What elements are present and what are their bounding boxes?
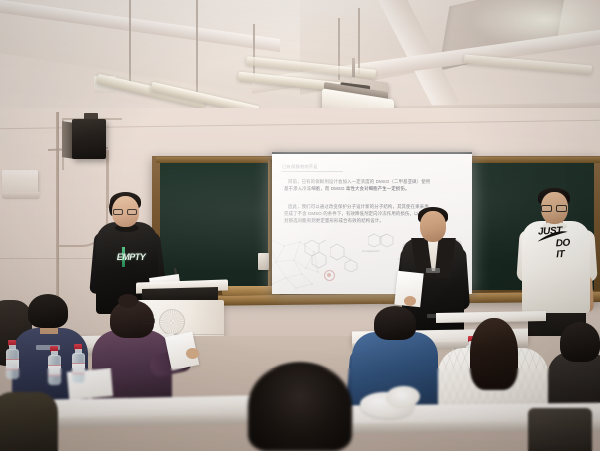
wall-junction-box-lip [2, 192, 40, 199]
glasses-icon [113, 209, 138, 215]
glasses-lens [113, 209, 123, 215]
audience-navy-hair [28, 294, 68, 328]
glasses-icon [541, 205, 567, 212]
audience-dark-hair [560, 322, 600, 362]
electrical-conduit [106, 150, 109, 208]
right-presenter-shirt-text-bottom: DO IT [555, 238, 570, 261]
foreground-audience-head [248, 362, 352, 451]
glasses-lens [127, 209, 137, 215]
light-hanger-rod [196, 0, 198, 94]
lectern-emblem [160, 310, 184, 334]
audience-purple-hand [186, 348, 199, 359]
right-presenter-shirt-text-top: JUST [538, 225, 563, 237]
glasses-lens [541, 205, 552, 212]
audience-blue-hair [374, 306, 416, 340]
slide-paragraph-line: 因此，我们可以通过改变保护分子设计新的分子结构，其其使在果采用 [288, 203, 429, 210]
glasses-lens [556, 205, 567, 212]
audience-member [0, 392, 58, 451]
classroom-photo: 已有保鲜剂的不足 目前，已有的保鲜剂设计会加入一定浓度的 DMSO（二甲基亚砜）… [0, 0, 600, 451]
chalk-eraser [258, 253, 269, 270]
molecule-label: Compound A [362, 249, 379, 253]
light-hanger-rod [358, 8, 360, 74]
bottle-label [6, 359, 19, 370]
slide-paragraph-line: 封那选对能有到更定量形形成合有效的结构设计。 [284, 217, 384, 224]
molecular-structure-icon [330, 242, 358, 272]
center-presenter-badge [426, 268, 440, 273]
slide-title: 已有保鲜剂的不足 [282, 164, 318, 170]
glasses-icon [143, 318, 155, 324]
wall-speaker [72, 119, 106, 159]
slide-paragraph-line: 目前，已有的保鲜剂设计会加入一定浓度的 DMSO（二甲基亚砜）使用 [288, 178, 430, 185]
molecular-structure-icon [368, 232, 394, 258]
bottle-label [48, 365, 61, 376]
audience-purple-hair-bun [118, 294, 138, 308]
center-presenter-hand [404, 296, 416, 306]
slide-title-rule [281, 171, 343, 172]
slide-paragraph-line: 完成了不含 DMSO 的条件下，有效降低剂定向冷冻作用的损伤，以这 [284, 210, 423, 217]
highlight-dot [327, 273, 331, 277]
left-presenter-shirt-text: EMPTY [112, 250, 150, 265]
center-presenter-head [420, 211, 446, 242]
slide-paragraph-line: 基于渗入冷冻细胞，而 DMSO 毒性大会对细胞产生一定损伤。 [284, 185, 410, 192]
audience-white-knit-hair [470, 318, 518, 390]
ceiling-glow [470, 0, 600, 50]
bottle-label [72, 363, 85, 374]
light-hanger-rod [129, 0, 131, 86]
chair-back [528, 408, 592, 451]
